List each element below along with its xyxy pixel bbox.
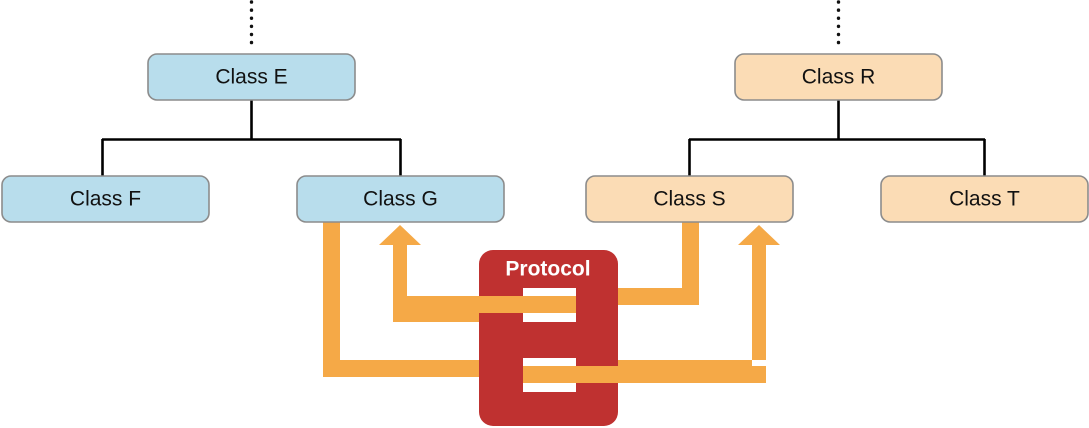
diagram-svg: Protocol Class E Class F Class G Class R <box>0 0 1089 428</box>
class-node-g[interactable]: Class G <box>297 176 504 222</box>
class-node-r[interactable]: Class R <box>735 54 942 100</box>
class-node-s[interactable]: Class S <box>586 176 793 222</box>
class-s-label: Class S <box>653 188 725 211</box>
protocol-node[interactable]: Protocol <box>479 250 618 426</box>
lower-band-through-slot <box>523 366 766 383</box>
class-f-label: Class F <box>70 188 141 211</box>
class-r-label: Class R <box>802 66 876 89</box>
upper-band-through-slot <box>393 296 576 313</box>
class-g-label: Class G <box>363 188 438 211</box>
protocol-label: Protocol <box>505 258 590 281</box>
class-node-f[interactable]: Class F <box>2 176 209 222</box>
diagram-canvas: Protocol Class E Class F Class G Class R <box>0 0 1089 428</box>
class-node-e[interactable]: Class E <box>148 54 355 100</box>
class-t-label: Class T <box>949 188 1020 211</box>
left-tree-connectors <box>102 100 401 177</box>
class-node-t[interactable]: Class T <box>881 176 1088 222</box>
right-tree-connectors <box>689 100 985 177</box>
class-e-label: Class E <box>215 66 287 89</box>
